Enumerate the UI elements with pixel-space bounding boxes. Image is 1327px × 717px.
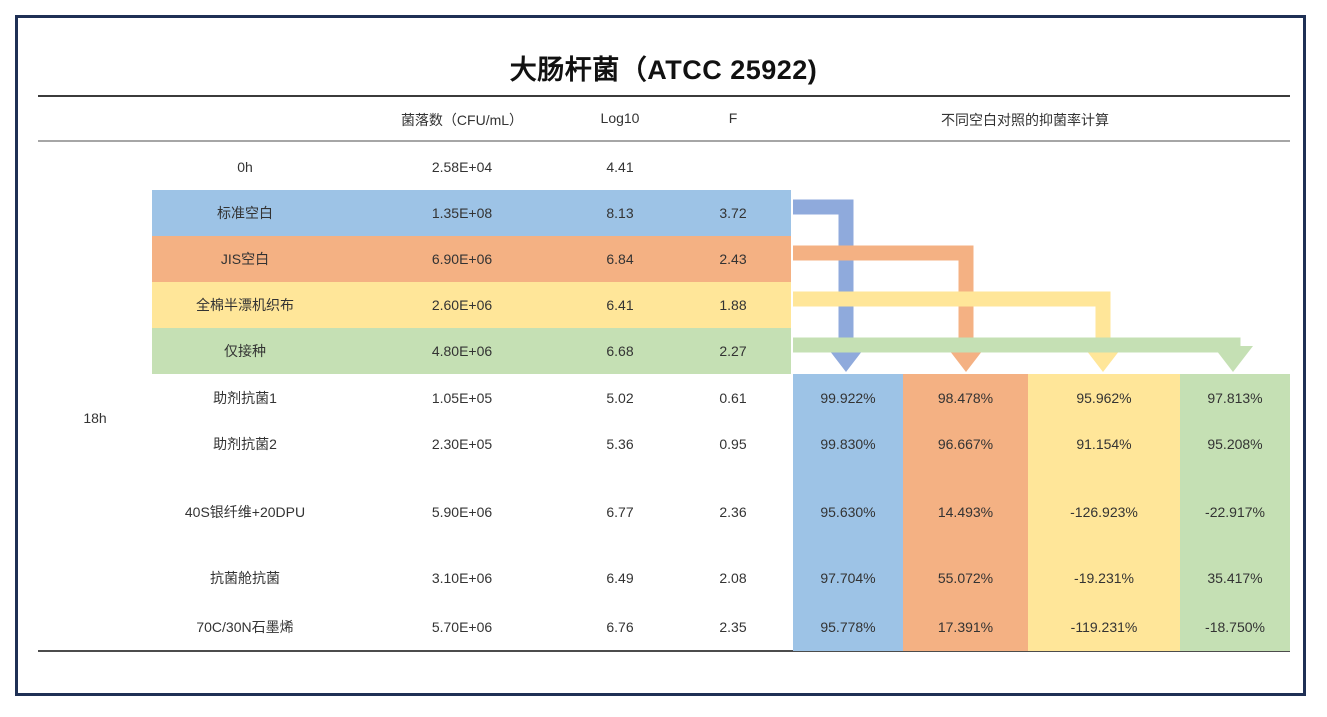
rate-column: 95.962%91.154%-126.923%-19.231%-119.231%: [1028, 374, 1180, 651]
time-point-label: 18h: [55, 410, 135, 426]
rate-cell: 55.072%: [903, 570, 1028, 586]
table-row[interactable]: 抗菌舱抗菌3.10E+066.492.08: [152, 555, 791, 601]
cell-f: 2.08: [683, 570, 783, 586]
cell-f: 2.27: [683, 343, 783, 359]
row-label: 标准空白: [152, 203, 338, 223]
connector-inoculation-only: [793, 338, 1253, 373]
column-header-f: F: [683, 110, 783, 126]
cell-f: 3.72: [683, 205, 783, 221]
page-title: 大肠杆菌（ATCC 25922): [0, 48, 1327, 87]
rate-cell: 97.813%: [1180, 390, 1290, 406]
rate-cell: 35.417%: [1180, 570, 1290, 586]
cell-f: 0.95: [683, 436, 783, 452]
cell-cfu: 4.80E+06: [362, 343, 562, 359]
cell-f: 0.61: [683, 390, 783, 406]
table-row[interactable]: 40S银纤维+20DPU5.90E+066.772.36: [152, 489, 791, 535]
cell-log10: 6.49: [560, 570, 680, 586]
cell-f: 2.35: [683, 619, 783, 635]
cell-log10: 6.76: [560, 619, 680, 635]
cell-log10: 5.02: [560, 390, 680, 406]
cell-cfu: 2.58E+04: [362, 159, 562, 175]
rate-cell: 97.704%: [793, 570, 903, 586]
cell-cfu: 5.70E+06: [362, 619, 562, 635]
row-label: 40S银纤维+20DPU: [152, 502, 338, 522]
rate-cell: 17.391%: [903, 619, 1028, 635]
cell-cfu: 5.90E+06: [362, 504, 562, 520]
rate-cell: -19.231%: [1028, 570, 1180, 586]
cell-f: 1.88: [683, 297, 783, 313]
rate-cell: -18.750%: [1180, 619, 1290, 635]
rate-cell: 91.154%: [1028, 436, 1180, 452]
cell-log10: 6.41: [560, 297, 680, 313]
cell-log10: 4.41: [560, 159, 680, 175]
cell-log10: 5.36: [560, 436, 680, 452]
rate-column: 98.478%96.667%14.493%55.072%17.391%: [903, 374, 1028, 651]
table-row[interactable]: 仅接种4.80E+066.682.27: [152, 328, 791, 374]
table-row[interactable]: 全棉半漂机织布2.60E+066.411.88: [152, 282, 791, 328]
table-top-rule: [38, 95, 1290, 97]
rate-cell: 95.778%: [793, 619, 903, 635]
connector-cotton-fabric: [793, 292, 1123, 373]
cell-log10: 8.13: [560, 205, 680, 221]
table-row[interactable]: 标准空白1.35E+088.133.72: [152, 190, 791, 236]
row-label: 助剂抗菌1: [152, 388, 338, 408]
rate-column: 99.922%99.830%95.630%97.704%95.778%: [793, 374, 903, 651]
column-header-log10: Log10: [560, 110, 680, 126]
table-row[interactable]: 助剂抗菌11.05E+055.020.61: [152, 375, 791, 421]
table-row[interactable]: 助剂抗菌22.30E+055.360.95: [152, 421, 791, 467]
slide-canvas: 大肠杆菌（ATCC 25922) 菌落数（CFU/mL） Log10 F 不同空…: [0, 0, 1327, 717]
rate-cell: 96.667%: [903, 436, 1028, 452]
row-label: 0h: [152, 159, 338, 175]
cell-cfu: 6.90E+06: [362, 251, 562, 267]
connector-standard-blank: [793, 200, 866, 373]
column-header-cfu: 菌落数（CFU/mL）: [362, 110, 562, 130]
rate-cell: -119.231%: [1028, 619, 1180, 635]
cell-log10: 6.77: [560, 504, 680, 520]
table-row[interactable]: 0h2.58E+044.41: [152, 144, 791, 190]
row-label: 全棉半漂机织布: [152, 295, 338, 315]
row-label: 抗菌舱抗菌: [152, 568, 338, 588]
row-label: 仅接种: [152, 341, 338, 361]
cell-cfu: 3.10E+06: [362, 570, 562, 586]
column-header-inhibition-rate: 不同空白对照的抑菌率计算: [875, 110, 1175, 130]
rate-cell: 99.922%: [793, 390, 903, 406]
rate-cell: 95.630%: [793, 504, 903, 520]
rate-cell: 14.493%: [903, 504, 1028, 520]
cell-log10: 6.68: [560, 343, 680, 359]
cell-cfu: 1.35E+08: [362, 205, 562, 221]
rate-cell: 98.478%: [903, 390, 1028, 406]
rate-column: 97.813%95.208%-22.917%35.417%-18.750%: [1180, 374, 1290, 651]
table-header-rule: [38, 140, 1290, 142]
row-label: 70C/30N石墨烯: [152, 617, 338, 637]
row-label: JIS空白: [152, 249, 338, 269]
cell-cfu: 2.60E+06: [362, 297, 562, 313]
cell-cfu: 1.05E+05: [362, 390, 562, 406]
table-row[interactable]: 70C/30N石墨烯5.70E+066.762.35: [152, 604, 791, 650]
row-label: 助剂抗菌2: [152, 434, 338, 454]
cell-cfu: 2.30E+05: [362, 436, 562, 452]
rate-cell: 95.208%: [1180, 436, 1290, 452]
rate-cell: -22.917%: [1180, 504, 1290, 520]
table-row[interactable]: JIS空白6.90E+066.842.43: [152, 236, 791, 282]
cell-log10: 6.84: [560, 251, 680, 267]
rate-cell: 95.962%: [1028, 390, 1180, 406]
rate-cell: 99.830%: [793, 436, 903, 452]
rate-cell: -126.923%: [1028, 504, 1180, 520]
cell-f: 2.36: [683, 504, 783, 520]
cell-f: 2.43: [683, 251, 783, 267]
connector-jis-blank: [793, 246, 986, 373]
